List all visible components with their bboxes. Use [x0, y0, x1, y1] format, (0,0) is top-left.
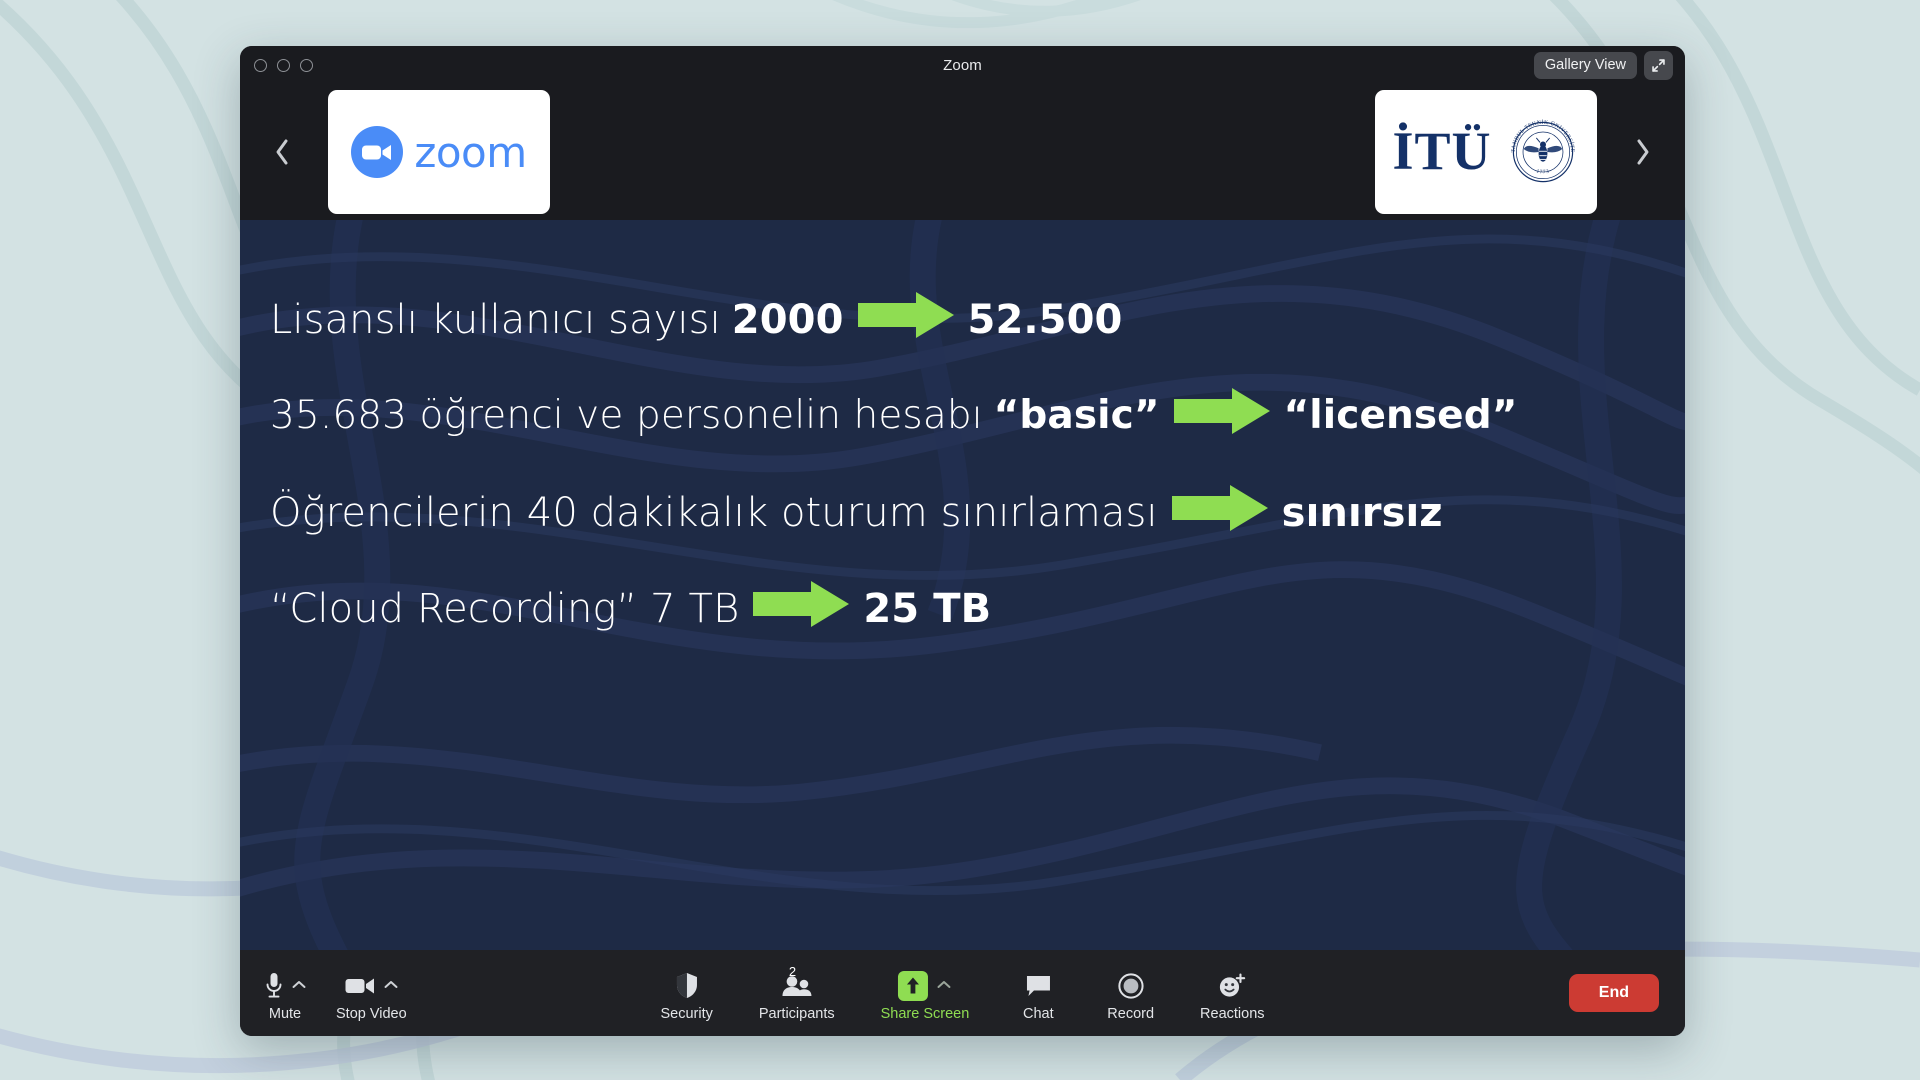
slide-line-2: 35.683 öğrenci ve personelin hesabı “bas…: [270, 388, 1649, 445]
itu-logo-tile[interactable]: İTÜ İSTANBUL TEKNİK ÜNİVERSİTESİ: [1375, 90, 1597, 214]
share-options-chevron-icon[interactable]: [937, 977, 951, 995]
line-2-text: 35.683 öğrenci ve personelin hesabı: [270, 394, 983, 439]
mute-options-chevron-icon[interactable]: [292, 977, 306, 995]
zoom-window: Zoom Gallery View: [240, 46, 1685, 1036]
filmstrip-next-button[interactable]: [1615, 84, 1671, 220]
security-button[interactable]: Security: [660, 965, 712, 1022]
participants-button[interactable]: 2 Participants: [759, 965, 835, 1022]
filmstrip-prev-button[interactable]: [254, 84, 310, 220]
line-4-text: “Cloud Recording” 7 TB: [270, 586, 739, 632]
shared-screen-stage: Lisanslı kullanıcı sayısı 2000 52.500 35…: [240, 220, 1685, 950]
window-title: Zoom: [240, 57, 1685, 74]
toolbar-right-group: End: [1569, 974, 1659, 1012]
end-meeting-button[interactable]: End: [1569, 974, 1659, 1012]
toolbar-left-group: Mute: [262, 965, 407, 1022]
slide-line-3: Öğrencilerin 40 dakikalık oturum sınırla…: [270, 485, 1649, 541]
share-screen-label: Share Screen: [881, 1006, 970, 1022]
right-arrow-icon: [1174, 388, 1270, 445]
zoom-logo-tile[interactable]: zoom: [328, 90, 550, 214]
line-3-text: Öğrencilerin 40 dakikalık oturum sınırla…: [270, 490, 1158, 536]
reactions-button[interactable]: Reactions: [1200, 965, 1264, 1022]
itu-seal-icon: İSTANBUL TEKNİK ÜNİVERSİTESİ 1773: [1506, 115, 1580, 189]
participants-count-badge: 2: [789, 965, 796, 978]
smiley-plus-icon: [1218, 971, 1246, 1001]
slide-line-4: “Cloud Recording” 7 TB 25 TB: [270, 581, 1649, 637]
line-2-before-value: “basic”: [994, 394, 1160, 439]
traffic-lights: [254, 59, 313, 72]
share-screen-arrow-icon: [898, 971, 928, 1001]
right-arrow-icon: [1172, 485, 1268, 541]
line-1-before-value: 2000: [732, 297, 844, 343]
video-camera-icon: [351, 126, 403, 178]
toolbar-center-group: Security 2 Part: [660, 965, 1264, 1022]
close-button[interactable]: [254, 59, 267, 72]
svg-text:1773: 1773: [1535, 169, 1550, 176]
chat-button[interactable]: Chat: [1015, 965, 1061, 1022]
mute-button[interactable]: Mute: [262, 965, 308, 1022]
line-4-after-value: 25 TB: [863, 586, 991, 632]
zoom-wordmark: zoom: [414, 128, 526, 177]
line-1-after-value: 52.500: [968, 297, 1123, 343]
video-options-chevron-icon[interactable]: [384, 977, 398, 995]
zoom-logo: zoom: [351, 126, 526, 178]
slide-content: Lisanslı kullanıcı sayısı 2000 52.500 35…: [240, 220, 1685, 950]
people-icon: [781, 971, 813, 1001]
line-1-text: Lisanslı kullanıcı sayısı: [270, 297, 721, 343]
minimize-button[interactable]: [277, 59, 290, 72]
participants-label: Participants: [759, 1006, 835, 1022]
record-button[interactable]: Record: [1107, 965, 1154, 1022]
record-label: Record: [1107, 1006, 1154, 1022]
stop-video-button[interactable]: Stop Video: [336, 965, 407, 1022]
fullscreen-button[interactable]: [1644, 51, 1673, 80]
chevron-left-icon: [272, 137, 292, 167]
line-3-after-value: sınırsız: [1282, 490, 1443, 536]
line-2-after-value: “licensed”: [1284, 394, 1518, 439]
gallery-view-button[interactable]: Gallery View: [1534, 52, 1637, 79]
chat-label: Chat: [1023, 1006, 1054, 1022]
window-titlebar: Zoom Gallery View: [240, 46, 1685, 84]
speech-bubble-icon: [1025, 971, 1052, 1001]
itu-logo: İTÜ İSTANBUL TEKNİK ÜNİVERSİTESİ: [1384, 115, 1587, 189]
stop-video-label: Stop Video: [336, 1006, 407, 1022]
record-circle-icon: [1118, 971, 1144, 1001]
maximize-button[interactable]: [300, 59, 313, 72]
itu-wordmark: İTÜ: [1392, 126, 1491, 177]
microphone-icon: [265, 971, 283, 1001]
right-arrow-icon: [753, 581, 849, 637]
slide-line-1: Lisanslı kullanıcı sayısı 2000 52.500: [270, 292, 1649, 348]
meeting-toolbar: Mute: [240, 950, 1685, 1036]
titlebar-actions: Gallery View: [1534, 51, 1673, 80]
video-filmstrip: zoom İTÜ İSTANBUL TEKNİK: [240, 84, 1685, 220]
right-arrow-icon: [858, 292, 954, 348]
desktop-background: Zoom Gallery View: [0, 0, 1920, 1080]
expand-arrows-icon: [1651, 58, 1666, 73]
security-label: Security: [660, 1006, 712, 1022]
shield-icon: [675, 971, 699, 1001]
video-camera-icon: [345, 971, 375, 1001]
share-screen-button[interactable]: Share Screen: [881, 965, 970, 1022]
reactions-label: Reactions: [1200, 1006, 1264, 1022]
chevron-right-icon: [1633, 137, 1653, 167]
mute-label: Mute: [269, 1006, 301, 1022]
